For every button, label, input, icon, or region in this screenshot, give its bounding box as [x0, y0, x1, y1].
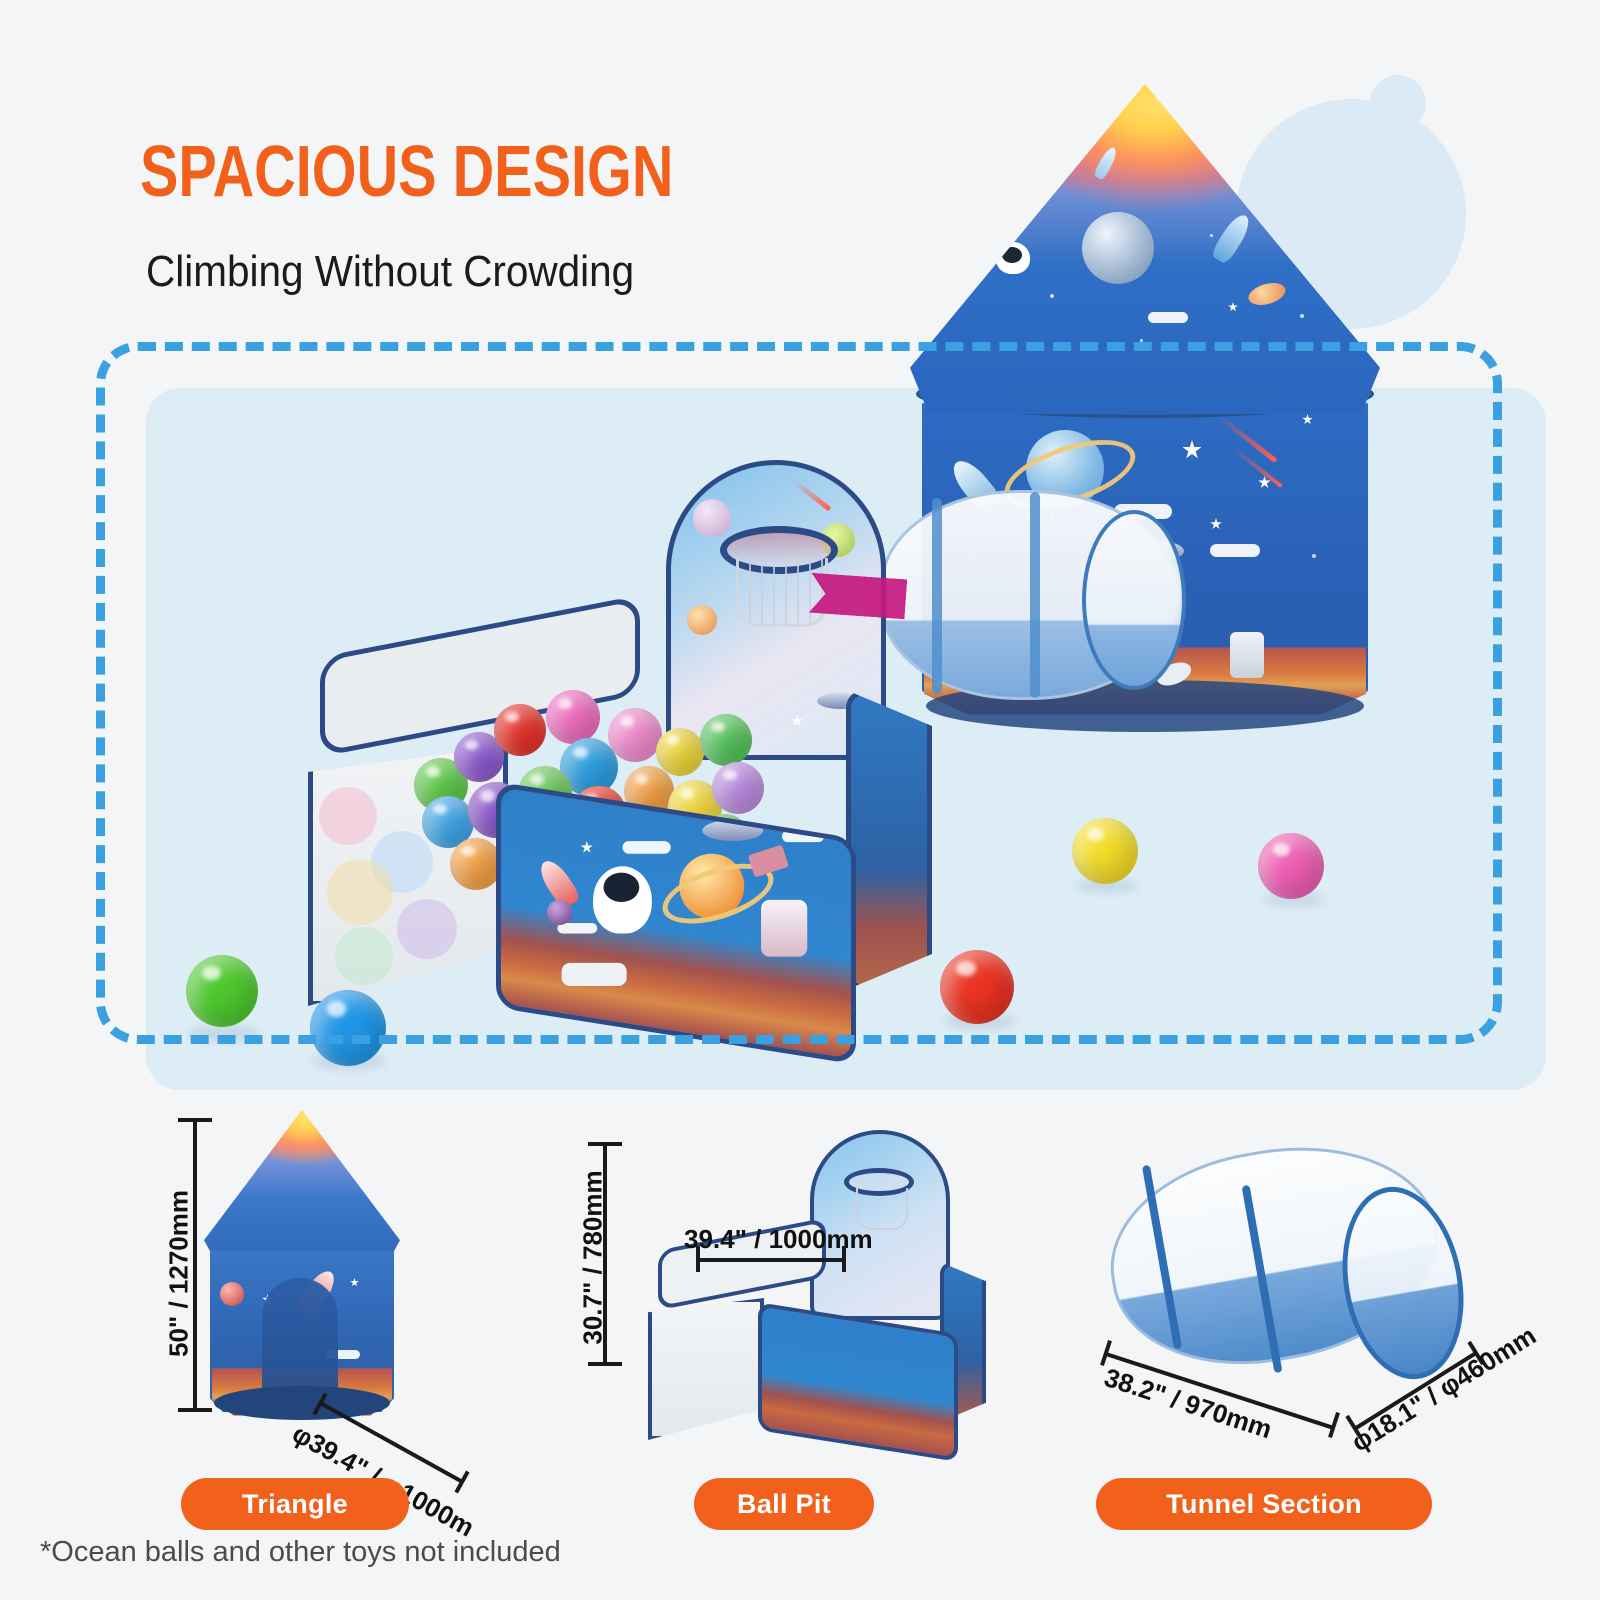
- spec-tunnel-diagram: 38.2" / 970mm φ18.1" / φ460mm: [1100, 1140, 1500, 1410]
- dim-cap-top: [178, 1118, 212, 1122]
- tunnel-length-label: 38.2" / 970mm: [1100, 1362, 1275, 1445]
- subheadline: Climbing Without Crowding: [146, 246, 634, 298]
- planet-icon: [1246, 279, 1288, 309]
- spec-triangle-diagram: 50" / 1270mm φ39.4" / φ1000m: [150, 1110, 480, 1430]
- rocket-icon: [1093, 145, 1120, 181]
- spec-ballpit-diagram: 30.7" / 780mm 39.4" / 1000mm: [640, 1130, 980, 1430]
- ballpit-height-label: 30.7" / 780mm: [578, 1133, 609, 1383]
- planet-icon: [1082, 212, 1154, 284]
- triangle-height-label: 50" / 1270mm: [164, 1149, 195, 1399]
- tent-roof-small: [204, 1110, 400, 1258]
- astronaut-icon: [996, 242, 1030, 274]
- ball-pit-front-small: [758, 1302, 958, 1462]
- dim-line-horizontal: [698, 1258, 846, 1262]
- poster-stage: SPACIOUS DESIGN Climbing Without Crowdin…: [0, 0, 1600, 1600]
- ballpit-width-label: 39.4" / 1000mm: [684, 1224, 873, 1255]
- footnote: *Ocean balls and other toys not included: [40, 1536, 561, 1569]
- planet-icon: [1259, 189, 1311, 229]
- tent-base-small: [214, 1386, 390, 1420]
- badge-ball-pit[interactable]: Ball Pit: [694, 1478, 874, 1530]
- badge-triangle[interactable]: Triangle: [181, 1478, 409, 1530]
- dim-cap-bottom: [178, 1408, 212, 1412]
- dim-cap-end: [454, 1471, 469, 1494]
- ball-pit-mesh-small: [648, 1298, 764, 1440]
- headline: SPACIOUS DESIGN: [140, 134, 673, 210]
- badge-tunnel-section[interactable]: Tunnel Section: [1096, 1478, 1432, 1530]
- rocket-icon: [1210, 211, 1255, 266]
- dashed-highlight-frame: [96, 342, 1502, 1044]
